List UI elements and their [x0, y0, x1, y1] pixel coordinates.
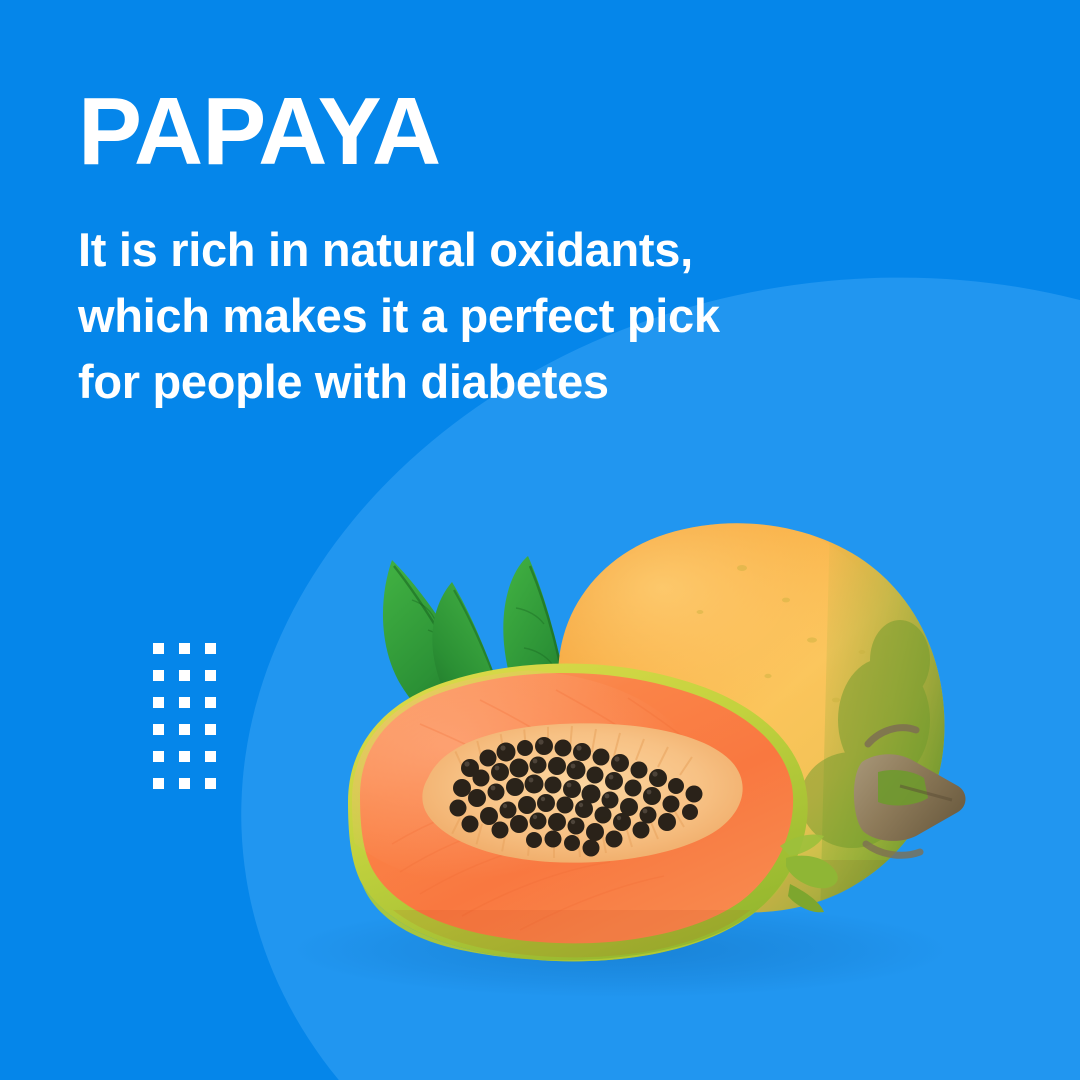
papaya-fact-card: PAPAYA It is rich in natural oxidants, w… — [0, 0, 1080, 1080]
dot-grid-cell — [153, 670, 164, 681]
dot-grid-cell — [179, 751, 190, 762]
dot-grid-cell — [153, 697, 164, 708]
dot-grid-cell — [205, 670, 216, 681]
dot-grid-cell — [179, 643, 190, 654]
body-copy: It is rich in natural oxidants, which ma… — [78, 217, 908, 415]
dot-grid-cell — [153, 778, 164, 789]
dot-grid-cell — [153, 751, 164, 762]
dot-grid-cell — [179, 724, 190, 735]
dot-grid-cell — [205, 724, 216, 735]
dot-grid-cell — [205, 778, 216, 789]
dot-grid-cell — [179, 697, 190, 708]
dot-grid-cell — [153, 724, 164, 735]
dot-grid-cell — [153, 643, 164, 654]
dot-grid-pattern — [153, 643, 216, 789]
body-copy-line-2: which makes it a perfect pick — [78, 283, 908, 349]
body-copy-line-1: It is rich in natural oxidants, — [78, 217, 908, 283]
dot-grid-cell — [205, 643, 216, 654]
dot-grid-cell — [179, 670, 190, 681]
page-title: PAPAYA — [78, 84, 440, 180]
dot-grid-cell — [205, 697, 216, 708]
body-copy-line-3: for people with diabetes — [78, 349, 908, 415]
dot-grid-cell — [205, 751, 216, 762]
dot-grid-cell — [179, 778, 190, 789]
